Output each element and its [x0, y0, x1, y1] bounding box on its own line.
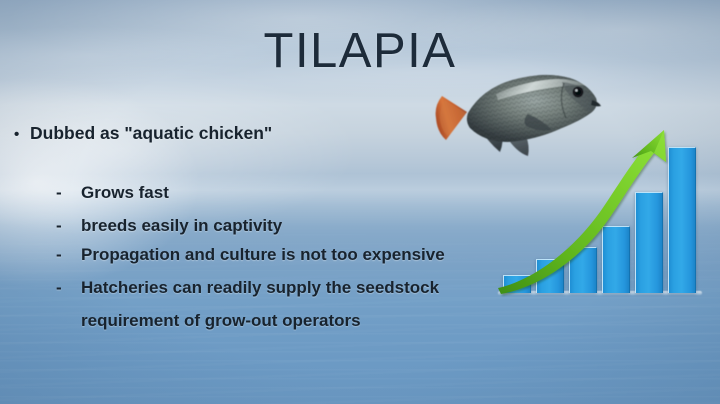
bullet-text: requirement of grow-out operators: [81, 311, 361, 331]
bullet-text: Grows fast: [81, 183, 169, 203]
growth-arrow-icon: [496, 126, 706, 302]
bullet-text: breeds easily in captivity: [81, 216, 282, 236]
bullet-item-sub-1: - Grows fast: [56, 183, 169, 203]
bullet-item-sub-4: - Hatcheries can readily supply the seed…: [56, 278, 439, 298]
presentation-slide: TILAPIA: [0, 0, 720, 404]
bullet-text: Propagation and culture is not too expen…: [81, 245, 445, 265]
page-title: TILAPIA: [0, 27, 720, 76]
bullet-item-primary: • Dubbed as "aquatic chicken": [14, 123, 272, 144]
dash-marker-icon: -: [56, 216, 81, 236]
bullet-text: Hatcheries can readily supply the seedst…: [81, 278, 439, 298]
dash-marker-icon: -: [56, 183, 81, 203]
bullet-item-sub-3: - Propagation and culture is not too exp…: [56, 245, 445, 265]
bullet-text: Dubbed as "aquatic chicken": [30, 123, 272, 144]
bullet-item-sub-4-continuation: requirement of grow-out operators: [81, 311, 361, 331]
dash-marker-icon: -: [56, 278, 81, 298]
dash-marker-icon: -: [56, 245, 81, 265]
bullet-marker-icon: •: [14, 127, 30, 142]
bullet-item-sub-2: - breeds easily in captivity: [56, 216, 282, 236]
